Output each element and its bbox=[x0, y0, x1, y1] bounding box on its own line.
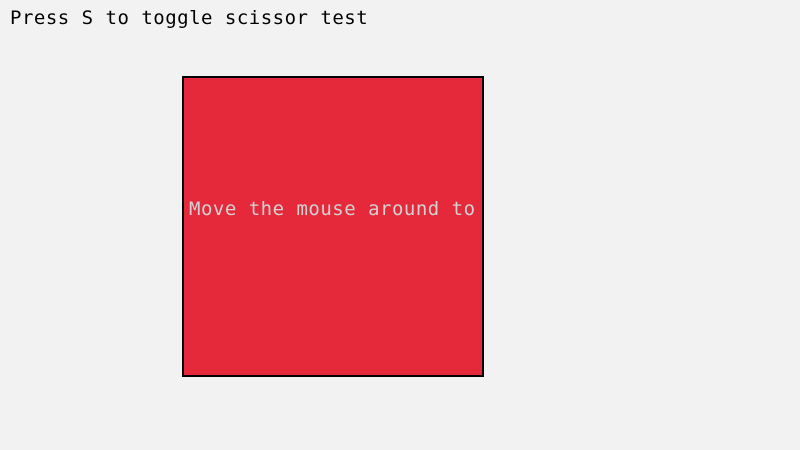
scissor-clipped-text: Move the mouse around to reveal the scis… bbox=[189, 197, 484, 221]
scissor-toggle-hint-label: Press S to toggle scissor test bbox=[10, 6, 368, 30]
scissor-rectangle[interactable]: Move the mouse around to reveal the scis… bbox=[182, 76, 484, 377]
app-canvas: Press S to toggle scissor test Move the … bbox=[0, 0, 800, 450]
